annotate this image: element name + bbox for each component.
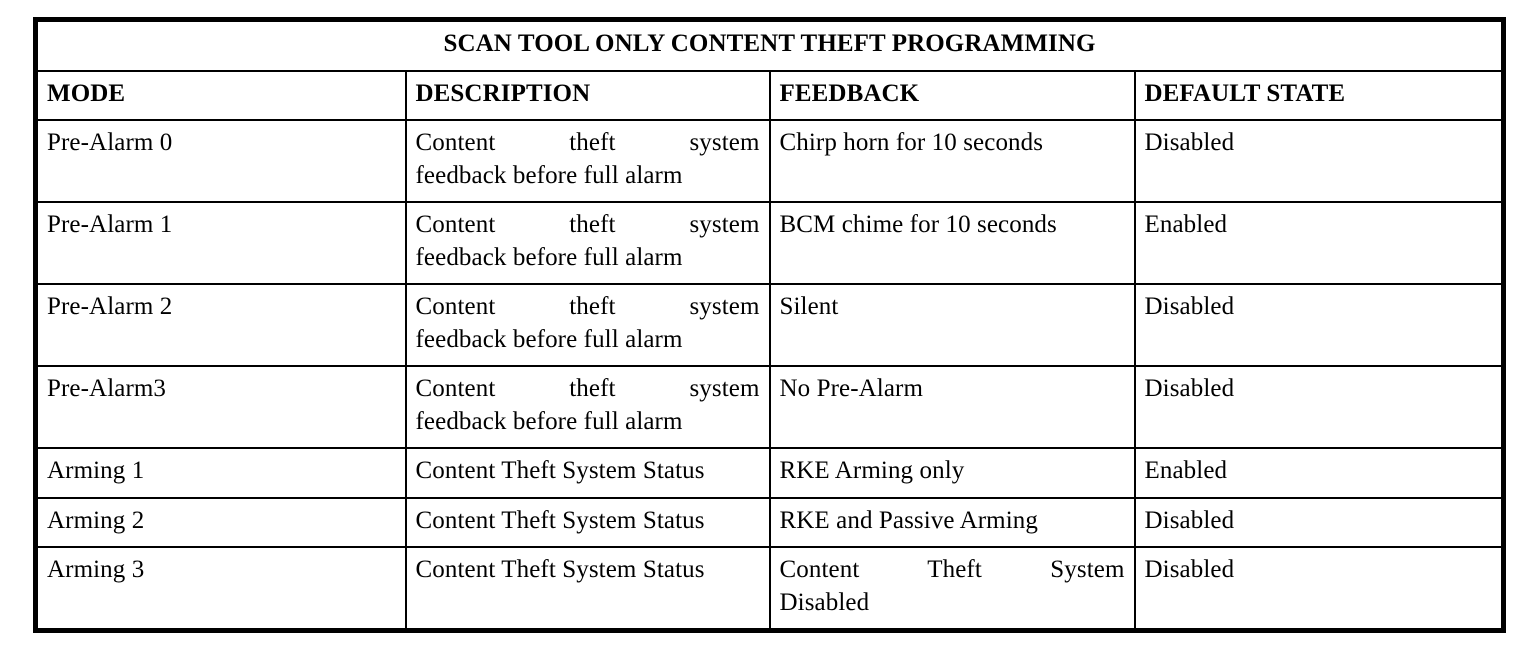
cell-description: Content theft system feedback before ful… [406, 202, 770, 284]
cell-line: Disabled [780, 587, 1125, 620]
cell-feedback: Chirp horn for 10 seconds [770, 120, 1135, 202]
table-row: Arming 1 Content Theft System Status RKE… [36, 448, 1504, 498]
cell-mode: Arming 3 [36, 547, 406, 631]
content-theft-programming-table: SCAN TOOL ONLY CONTENT THEFT PROGRAMMING… [33, 17, 1506, 633]
cell-description: Content Theft System Status [406, 498, 770, 548]
cell-feedback: BCM chime for 10 seconds [770, 202, 1135, 284]
cell-mode: Pre-Alarm3 [36, 366, 406, 448]
cell-mode: Pre-Alarm 0 [36, 120, 406, 202]
cell-feedback: Content Theft System Disabled [770, 547, 1135, 631]
cell-default-state: Disabled [1135, 498, 1504, 548]
table-row: Pre-Alarm 2 Content theft system feedbac… [36, 284, 1504, 366]
cell-description: Content Theft System Status [406, 448, 770, 498]
cell-feedback: Silent [770, 284, 1135, 366]
cell-mode: Pre-Alarm 1 [36, 202, 406, 284]
table-row: Arming 2 Content Theft System Status RKE… [36, 498, 1504, 548]
cell-description: Content theft system feedback before ful… [406, 284, 770, 366]
cell-line: Content theft system [416, 127, 760, 160]
cell-default-state: Disabled [1135, 547, 1504, 631]
table-row: Pre-Alarm3 Content theft system feedback… [36, 366, 1504, 448]
table-header-row: MODE DESCRIPTION FEEDBACK DEFAULT STATE [36, 71, 1504, 121]
cell-mode: Arming 1 [36, 448, 406, 498]
cell-line: Content Theft System [780, 554, 1125, 587]
cell-line: feedback before full alarm [416, 324, 760, 357]
cell-default-state: Disabled [1135, 284, 1504, 366]
cell-description: Content Theft System Status [406, 547, 770, 631]
cell-mode: Arming 2 [36, 498, 406, 548]
cell-line: feedback before full alarm [416, 242, 760, 275]
table-title-row: SCAN TOOL ONLY CONTENT THEFT PROGRAMMING [36, 20, 1504, 71]
cell-default-state: Enabled [1135, 448, 1504, 498]
cell-default-state: Enabled [1135, 202, 1504, 284]
cell-mode: Pre-Alarm 2 [36, 284, 406, 366]
cell-feedback: RKE Arming only [770, 448, 1135, 498]
column-header-default-state: DEFAULT STATE [1135, 71, 1504, 121]
cell-line: Content theft system [416, 209, 760, 242]
document-page: SCAN TOOL ONLY CONTENT THEFT PROGRAMMING… [0, 0, 1536, 652]
cell-line: feedback before full alarm [416, 160, 760, 193]
cell-line: Content theft system [416, 373, 760, 406]
cell-description: Content theft system feedback before ful… [406, 366, 770, 448]
column-header-description: DESCRIPTION [406, 71, 770, 121]
table-row: Pre-Alarm 1 Content theft system feedbac… [36, 202, 1504, 284]
column-header-feedback: FEEDBACK [770, 71, 1135, 121]
table-row: Pre-Alarm 0 Content theft system feedbac… [36, 120, 1504, 202]
column-header-mode: MODE [36, 71, 406, 121]
cell-default-state: Disabled [1135, 120, 1504, 202]
cell-line: feedback before full alarm [416, 406, 760, 439]
cell-line: Content theft system [416, 291, 760, 324]
cell-description: Content theft system feedback before ful… [406, 120, 770, 202]
table-title: SCAN TOOL ONLY CONTENT THEFT PROGRAMMING [36, 20, 1504, 71]
cell-default-state: Disabled [1135, 366, 1504, 448]
cell-feedback: RKE and Passive Arming [770, 498, 1135, 548]
table-row: Arming 3 Content Theft System Status Con… [36, 547, 1504, 631]
cell-feedback: No Pre-Alarm [770, 366, 1135, 448]
